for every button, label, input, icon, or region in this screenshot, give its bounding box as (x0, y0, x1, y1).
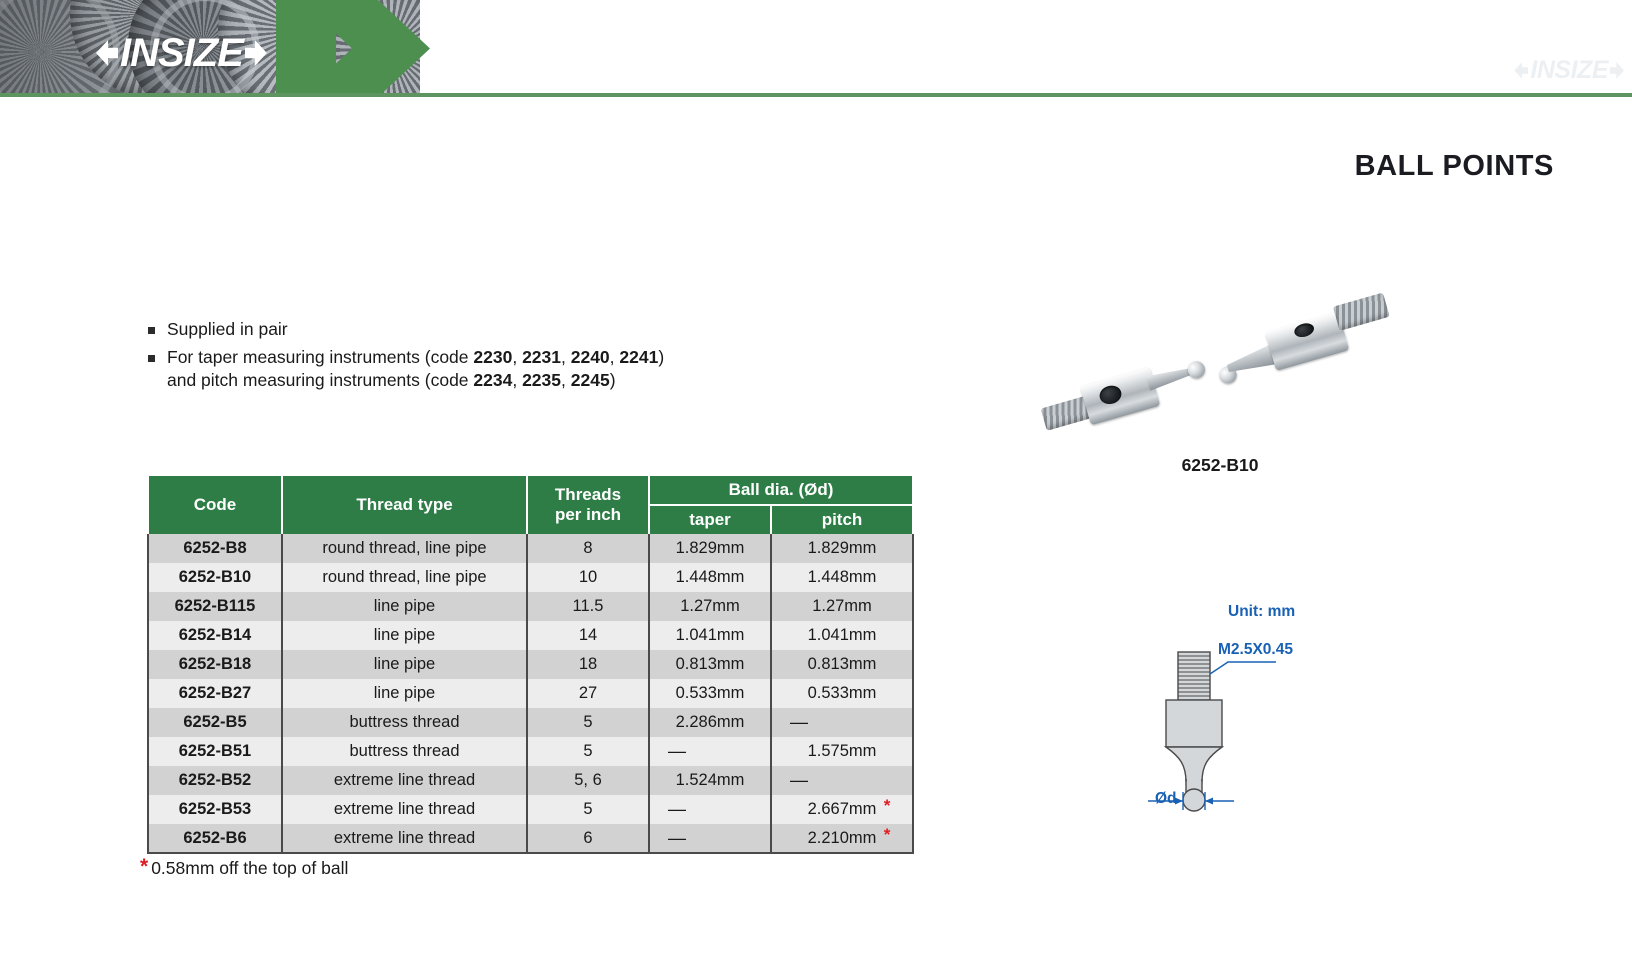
cell-pitch: 2.667mm* (771, 795, 913, 824)
logo-right-arrow-icon (245, 40, 267, 66)
footnote-asterisk-icon: * (140, 858, 148, 876)
table-row: 6252-B27line pipe270.533mm0.533mm (148, 679, 913, 708)
cell-taper: 1.829mm (649, 534, 771, 563)
product-caption: 6252-B10 (1020, 455, 1420, 476)
column-header-threads-per-inch: Threads per inch (527, 476, 649, 534)
bullet-square-icon (148, 327, 155, 334)
drawing-taper-neck (1166, 747, 1222, 782)
cell-pitch: 1.041mm (771, 621, 913, 650)
cell-threads-per-inch: 6 (527, 824, 649, 853)
table-row: 6252-B8round thread, line pipe81.829mm1.… (148, 534, 913, 563)
cell-threads-per-inch: 5 (527, 737, 649, 766)
cell-taper: — (649, 824, 771, 853)
bullet-text: Supplied in pair (167, 318, 288, 342)
insize-logo[interactable]: INSIZE (96, 33, 267, 73)
column-header-taper: taper (649, 505, 771, 534)
cell-code: 6252-B10 (148, 563, 282, 592)
cell-threads-per-inch: 5 (527, 708, 649, 737)
cell-threads-per-inch: 10 (527, 563, 649, 592)
cell-code: 6252-B52 (148, 766, 282, 795)
cell-thread-type: round thread, line pipe (282, 534, 527, 563)
cell-taper: 1.448mm (649, 563, 771, 592)
cell-code: 6252-B8 (148, 534, 282, 563)
table-row: 6252-B10round thread, line pipe101.448mm… (148, 563, 913, 592)
cell-taper: — (649, 795, 771, 824)
table-footnote: * 0.58mm off the top of ball (140, 858, 348, 879)
cell-threads-per-inch: 8 (527, 534, 649, 563)
cell-thread-type: line pipe (282, 592, 527, 621)
table-row: 6252-B14line pipe141.041mm1.041mm (148, 621, 913, 650)
table-row: 6252-B115line pipe11.51.27mm1.27mm (148, 592, 913, 621)
cell-code: 6252-B14 (148, 621, 282, 650)
cell-taper: 0.533mm (649, 679, 771, 708)
banner-green-rule (0, 93, 1632, 97)
cell-threads-per-inch: 11.5 (527, 592, 649, 621)
specification-table: Code Thread type Threads per inch Ball d… (147, 476, 914, 854)
cell-threads-per-inch: 5 (527, 795, 649, 824)
cell-pitch: 0.533mm (771, 679, 913, 708)
cell-pitch: — (771, 766, 913, 795)
table-row: 6252-B18line pipe180.813mm0.813mm (148, 650, 913, 679)
cell-code: 6252-B18 (148, 650, 282, 679)
cell-thread-type: extreme line thread (282, 766, 527, 795)
column-header-code: Code (148, 476, 282, 534)
watermark-wordmark: INSIZE (1530, 58, 1608, 83)
asterisk-icon: * (884, 825, 891, 845)
table-row: 6252-B6extreme line thread6—2.210mm* (148, 824, 913, 853)
cell-taper: — (649, 737, 771, 766)
cell-pitch: 0.813mm (771, 650, 913, 679)
table-head: Code Thread type Threads per inch Ball d… (148, 476, 913, 534)
footnote-text: 0.58mm off the top of ball (151, 858, 348, 879)
cell-code: 6252-B53 (148, 795, 282, 824)
cell-thread-type: line pipe (282, 650, 527, 679)
cell-pitch: 1.575mm (771, 737, 913, 766)
logo-left-arrow-icon (96, 40, 118, 66)
cell-thread-type: line pipe (282, 679, 527, 708)
product-probe-right (1205, 289, 1404, 399)
asterisk-icon: * (884, 796, 891, 816)
page-title: BALL POINTS (1355, 150, 1554, 183)
cell-code: 6252-B5 (148, 708, 282, 737)
cell-thread-type: extreme line thread (282, 824, 527, 853)
watermark-right-arrow-icon (1610, 62, 1624, 79)
bullet-item: For taper measuring instruments (code 22… (148, 346, 928, 393)
cell-pitch: 2.210mm* (771, 824, 913, 853)
cell-code: 6252-B51 (148, 737, 282, 766)
cell-thread-type: round thread, line pipe (282, 563, 527, 592)
catalog-page: INSIZE INSIZE BALL POINTS Supplied in pa… (0, 0, 1632, 960)
table-row: 6252-B53extreme line thread5—2.667mm* (148, 795, 913, 824)
cell-taper: 1.27mm (649, 592, 771, 621)
cell-thread-type: line pipe (282, 621, 527, 650)
cell-thread-type: buttress thread (282, 708, 527, 737)
column-header-thread-type: Thread type (282, 476, 527, 534)
cell-taper: 0.813mm (649, 650, 771, 679)
technical-drawing (1100, 590, 1400, 840)
bullet-square-icon (148, 355, 155, 362)
cell-code: 6252-B115 (148, 592, 282, 621)
table-row: 6252-B52extreme line thread5, 61.524mm— (148, 766, 913, 795)
logo-wordmark: INSIZE (120, 33, 243, 73)
bullet-text: For taper measuring instruments (code 22… (167, 346, 664, 393)
drawing-ball (1183, 789, 1205, 811)
cell-pitch: — (771, 708, 913, 737)
cell-threads-per-inch: 14 (527, 621, 649, 650)
cell-pitch: 1.27mm (771, 592, 913, 621)
drawing-body (1166, 700, 1222, 747)
table-row: 6252-B51buttress thread5—1.575mm (148, 737, 913, 766)
insize-watermark-logo: INSIZE (1514, 58, 1624, 83)
cell-pitch: 1.829mm (771, 534, 913, 563)
watermark-left-arrow-icon (1514, 62, 1528, 79)
cell-taper: 1.041mm (649, 621, 771, 650)
cell-threads-per-inch: 27 (527, 679, 649, 708)
cell-taper: 1.524mm (649, 766, 771, 795)
threads-per-inch-line1: Threads (528, 485, 648, 505)
table-row: 6252-B5buttress thread52.286mm— (148, 708, 913, 737)
product-probe-left (1025, 334, 1215, 441)
column-header-pitch: pitch (771, 505, 913, 534)
product-photo (1020, 300, 1420, 450)
column-header-ball-dia-group: Ball dia. (Ød) (649, 476, 913, 505)
bullet-item: Supplied in pair (148, 318, 928, 342)
cell-code: 6252-B6 (148, 824, 282, 853)
cell-threads-per-inch: 5, 6 (527, 766, 649, 795)
cell-threads-per-inch: 18 (527, 650, 649, 679)
table-body: 6252-B8round thread, line pipe81.829mm1.… (148, 534, 913, 853)
cell-code: 6252-B27 (148, 679, 282, 708)
cell-pitch: 1.448mm (771, 563, 913, 592)
cell-thread-type: buttress thread (282, 737, 527, 766)
drawing-leader-line (1210, 662, 1276, 674)
cell-thread-type: extreme line thread (282, 795, 527, 824)
cell-taper: 2.286mm (649, 708, 771, 737)
threads-per-inch-line2: per inch (528, 505, 648, 525)
header-banner: INSIZE INSIZE (0, 0, 1632, 97)
feature-bullet-list: Supplied in pairFor taper measuring inst… (148, 318, 928, 397)
